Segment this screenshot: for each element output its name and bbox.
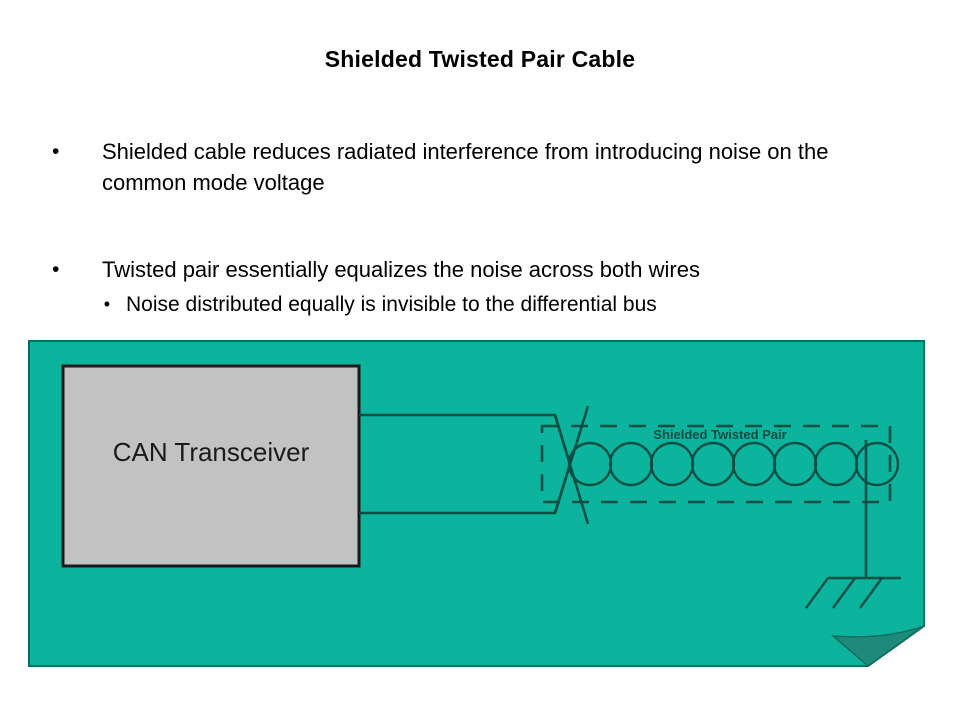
bullet-marker-icon: •	[52, 136, 102, 167]
bullet-item-3: • Noise distributed equally is invisible…	[62, 289, 912, 320]
diagram-svg	[28, 340, 925, 667]
bullet-item-1: • Shielded cable reduces radiated interf…	[52, 136, 912, 198]
cable-diagram	[28, 340, 925, 667]
bullet-marker-icon: •	[62, 289, 126, 320]
page-title: Shielded Twisted Pair Cable	[0, 46, 960, 73]
bullet-spacer	[52, 198, 912, 254]
bullet-text-2: Twisted pair essentially equalizes the n…	[102, 254, 700, 285]
slide-canvas: Shielded Twisted Pair Cable • Shielded c…	[0, 0, 960, 720]
bullet-item-2: • Twisted pair essentially equalizes the…	[52, 254, 912, 285]
bullet-text-3: Noise distributed equally is invisible t…	[126, 289, 657, 320]
bullet-text-1: Shielded cable reduces radiated interfer…	[102, 136, 912, 198]
bullet-list: • Shielded cable reduces radiated interf…	[52, 136, 912, 320]
can-transceiver-box	[63, 366, 359, 566]
bullet-marker-icon: •	[52, 254, 102, 285]
